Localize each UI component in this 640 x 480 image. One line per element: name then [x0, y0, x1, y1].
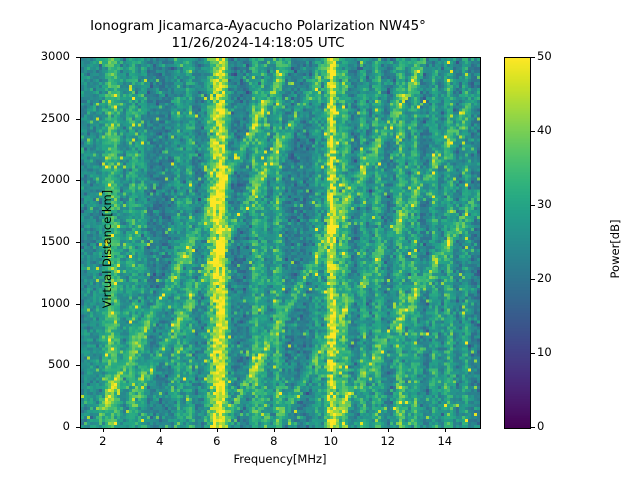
colorbar-tick — [531, 427, 535, 428]
ionogram-figure: Ionogram Jicamarca-Ayacucho Polarization… — [0, 0, 640, 480]
heatmap-canvas — [81, 58, 480, 428]
colorbar — [504, 57, 531, 429]
colorbar-tick — [531, 131, 535, 132]
colorbar-tick-label: 0 — [537, 419, 567, 433]
colorbar-tick-label: 20 — [537, 271, 567, 285]
ionogram-heatmap — [81, 58, 480, 428]
x-tick-label: 10 — [311, 434, 351, 448]
colorbar-tick-label: 40 — [537, 123, 567, 137]
x-tick — [274, 428, 275, 432]
x-tick — [160, 428, 161, 432]
chart-title: Ionogram Jicamarca-Ayacucho Polarization… — [0, 18, 516, 52]
y-tick — [76, 365, 80, 366]
y-tick — [76, 57, 80, 58]
y-tick-label: 1500 — [26, 234, 70, 248]
y-tick — [76, 180, 80, 181]
x-tick — [388, 428, 389, 432]
colorbar-tick-label: 30 — [537, 197, 567, 211]
chart-title-line-1: Ionogram Jicamarca-Ayacucho Polarization… — [90, 19, 426, 34]
x-tick — [103, 428, 104, 432]
y-tick-label: 2500 — [26, 111, 70, 125]
colorbar-tick-label: 10 — [537, 345, 567, 359]
colorbar-label: Power[dB] — [608, 64, 622, 434]
colorbar-gradient — [505, 58, 530, 428]
colorbar-tick — [531, 205, 535, 206]
colorbar-tick — [531, 279, 535, 280]
colorbar-tick — [531, 57, 535, 58]
y-tick-label: 2000 — [26, 172, 70, 186]
y-tick-label: 500 — [26, 357, 70, 371]
y-tick — [76, 119, 80, 120]
x-tick-label: 12 — [368, 434, 408, 448]
y-axis-label: Virtual Distance[km] — [100, 64, 114, 434]
x-tick — [445, 428, 446, 432]
x-tick-label: 6 — [197, 434, 237, 448]
y-tick — [76, 304, 80, 305]
colorbar-tick — [531, 353, 535, 354]
y-tick-label: 3000 — [26, 49, 70, 63]
x-tick-label: 4 — [140, 434, 180, 448]
x-tick-label: 2 — [83, 434, 123, 448]
colorbar-tick-label: 50 — [537, 49, 567, 63]
y-tick-label: 0 — [26, 419, 70, 433]
y-tick — [76, 427, 80, 428]
y-tick — [76, 242, 80, 243]
x-axis-label: Frequency[MHz] — [80, 452, 480, 466]
x-tick-label: 8 — [254, 434, 294, 448]
x-tick — [217, 428, 218, 432]
y-tick-label: 1000 — [26, 296, 70, 310]
heatmap-axes — [80, 57, 481, 429]
x-tick-label: 14 — [425, 434, 465, 448]
chart-title-line-2: 11/26/2024-14:18:05 UTC — [172, 36, 345, 51]
x-tick — [331, 428, 332, 432]
